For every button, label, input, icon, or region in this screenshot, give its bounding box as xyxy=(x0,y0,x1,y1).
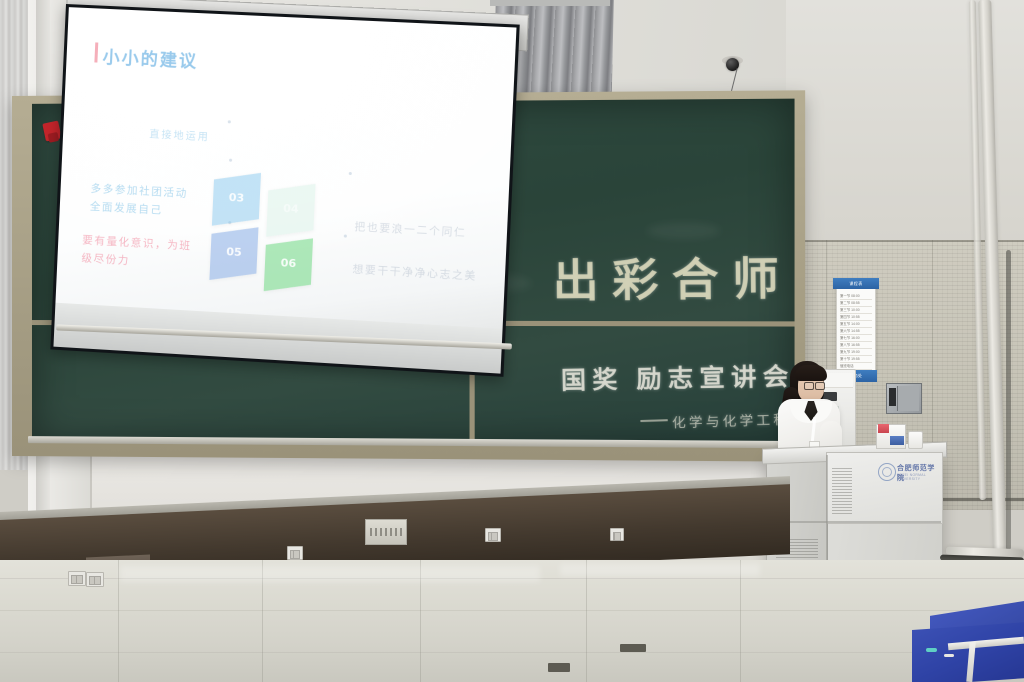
blackboard-dash xyxy=(640,419,667,421)
electrical-box-window xyxy=(889,388,896,406)
slide-title: 小小的建议 xyxy=(102,43,199,73)
wall-service-panel[interactable] xyxy=(365,519,407,545)
projection-screen: 小小的建议 直接地运用 多多参加社团活动 全面发展自己 要有量化意识，为班 级尽… xyxy=(50,4,519,377)
power-outlet-4[interactable] xyxy=(485,528,501,542)
panel-grill xyxy=(370,528,402,536)
wall-pipe-dark xyxy=(1006,250,1011,550)
power-outlet-3[interactable] xyxy=(287,546,303,560)
screen-surface: 小小的建议 直接地运用 多多参加社团活动 全面发展自己 要有量化意识，为班 级尽… xyxy=(53,7,516,373)
blackboard-subline: 国奖 励志宣讲会 xyxy=(561,356,795,396)
notice-row: 第六节 14:55 xyxy=(840,329,872,335)
electrical-box-door[interactable] xyxy=(897,386,919,411)
power-outlet-1[interactable] xyxy=(68,571,86,586)
slide-card-04: 04 xyxy=(266,184,315,237)
red-clip xyxy=(42,121,61,142)
white-cup xyxy=(908,431,923,449)
notice-row: 第十节 19:55 xyxy=(840,357,872,363)
red-box xyxy=(878,424,889,433)
curtain-rod xyxy=(490,0,610,6)
slide-left-line-4: 级尽份力 xyxy=(81,250,130,269)
notice-board-header-label: 课程表 xyxy=(833,278,879,289)
glasses-icon xyxy=(804,382,825,389)
floor-outlet-cover-2 xyxy=(620,644,646,652)
classroom-photo: 出彩合师 国奖 励志宣讲会 化学与化学工程学院 PANASONIC 小小的建议 … xyxy=(0,0,1024,682)
notice-board-header: 课程表 xyxy=(833,278,879,289)
podium-vent xyxy=(832,468,852,514)
electrical-box[interactable] xyxy=(886,383,922,414)
mat-small-item xyxy=(926,648,937,652)
notice-row: 第八节 16:55 xyxy=(840,343,872,349)
power-outlet-2[interactable] xyxy=(86,572,104,587)
notice-row: 第九节 19:00 xyxy=(840,350,872,356)
notice-row: 第四节 10:55 xyxy=(840,315,872,321)
podium-logo: 合肥师范学院 HEFEI NORMAL UNIVERSITY xyxy=(878,462,936,482)
slide-card-05: 05 xyxy=(209,227,258,280)
notice-row: 第三节 10:00 xyxy=(840,308,872,314)
university-emblem-icon xyxy=(878,463,896,481)
notice-board[interactable]: 课程表 第一节 08:00 第二节 08:55 第三节 10:00 第四节 10… xyxy=(836,283,876,373)
power-outlet-5[interactable] xyxy=(610,528,624,541)
notice-row: 第二节 08:55 xyxy=(840,301,872,307)
mat-small-item-2 xyxy=(944,654,954,657)
slide-card-05-number: 05 xyxy=(210,244,257,260)
notice-row: 第一节 08:00 xyxy=(840,294,872,300)
university-name-en: HEFEI NORMAL UNIVERSITY xyxy=(897,473,936,481)
notice-row: 第五节 14:00 xyxy=(840,322,872,328)
slide-card-03: 03 xyxy=(212,173,261,226)
blackboard-headline: 出彩合师 xyxy=(552,242,792,310)
hair-fringe xyxy=(795,365,827,381)
floor xyxy=(0,560,1024,682)
slide-card-03-number: 03 xyxy=(213,190,260,206)
notice-row: 第七节 16:00 xyxy=(840,336,872,342)
floor-outlet-cover-1 xyxy=(548,663,570,672)
slide-card-04-number: 04 xyxy=(267,201,314,217)
slide-card-06: 06 xyxy=(264,238,313,291)
slide-card-06-number: 06 xyxy=(265,255,312,271)
podium-seam-horizontal xyxy=(766,521,941,523)
slide-subtitle: 直接地运用 xyxy=(149,125,210,143)
blue-box xyxy=(890,436,904,445)
